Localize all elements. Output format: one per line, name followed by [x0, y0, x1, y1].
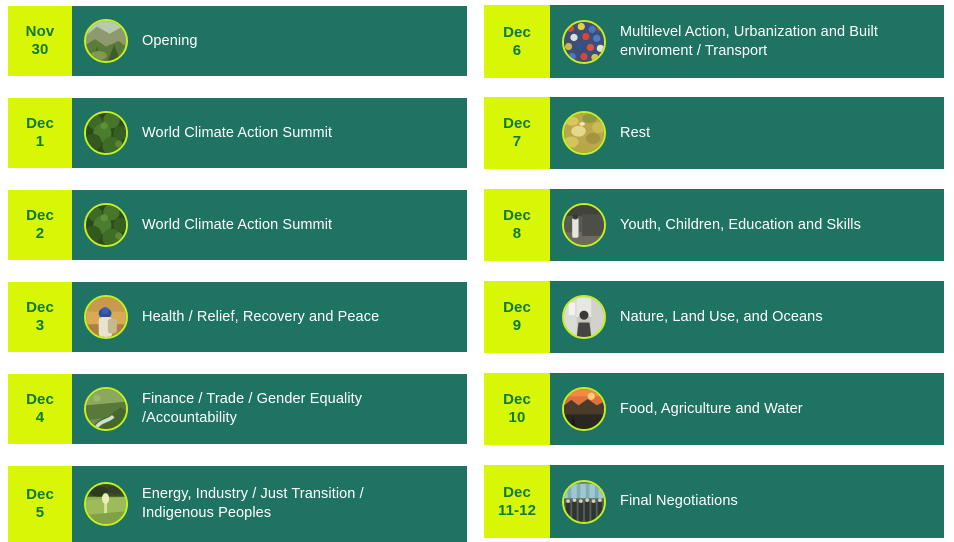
event-card-body: Finance / Trade / Gender Equality /Accou… — [72, 374, 467, 444]
event-card-body: Rest — [550, 97, 944, 169]
event-date-month: Nov — [26, 23, 55, 41]
event-date-day: 9 — [513, 317, 521, 335]
thumbnail-person-interior — [562, 295, 606, 339]
thumbnail-group-photo — [562, 480, 606, 524]
thumbnail-crowd-city — [562, 20, 606, 64]
thumbnail-autumn-leaves — [562, 111, 606, 155]
thumbnail-opening-landscape — [84, 19, 128, 63]
thumbnail-field-crops — [84, 482, 128, 526]
event-label: Multilevel Action, Urbanization and Buil… — [620, 23, 878, 60]
event-card[interactable]: Dec 8 Youth, Children, Education and Ski… — [484, 189, 944, 261]
event-date-day: 7 — [513, 133, 521, 151]
thumbnail-child-wall — [562, 203, 606, 247]
event-date-chip: Dec 4 — [8, 374, 72, 444]
event-date-day: 2 — [36, 225, 44, 243]
thumbnail-sunset-field — [562, 387, 606, 431]
event-label: Finance / Trade / Gender Equality /Accou… — [142, 390, 362, 427]
event-card[interactable]: Dec 9 Nature, Land Use, and Oceans — [484, 281, 944, 353]
event-card-body: Opening — [72, 6, 467, 76]
event-card-body: Nature, Land Use, and Oceans — [550, 281, 944, 353]
event-date-day: 10 — [509, 409, 526, 427]
thumbnail-health-worker — [84, 295, 128, 339]
event-label: Food, Agriculture and Water — [620, 400, 803, 419]
thumbnail-forest-canopy — [84, 111, 128, 155]
event-label: World Climate Action Summit — [142, 216, 332, 235]
event-date-month: Dec — [26, 299, 54, 317]
event-date-day: 5 — [36, 504, 44, 522]
schedule-column-right: Dec 6 — [484, 0, 944, 542]
event-date-month: Dec — [503, 115, 531, 133]
event-date-chip: Dec 6 — [484, 5, 550, 78]
event-date-month: Dec — [26, 207, 54, 225]
event-label: Health / Relief, Recovery and Peace — [142, 308, 379, 327]
event-date-day: 4 — [36, 409, 44, 427]
event-card[interactable]: Dec 2 World C — [8, 190, 467, 260]
event-card[interactable]: Dec 1 World C — [8, 98, 467, 168]
event-date-month: Dec — [26, 115, 54, 133]
event-label: Rest — [620, 124, 650, 143]
event-date-month: Dec — [503, 299, 531, 317]
thumbnail-river-valley — [84, 387, 128, 431]
event-card-body: Health / Relief, Recovery and Peace — [72, 282, 467, 352]
event-card-body: Final Negotiations — [550, 465, 944, 538]
event-card-body: Multilevel Action, Urbanization and Buil… — [550, 5, 944, 78]
event-date-chip: Dec 2 — [8, 190, 72, 260]
event-card[interactable]: Dec 4 Finance / Trade / Gender Equality … — [8, 374, 467, 444]
event-date-month: Dec — [503, 484, 531, 502]
event-label: Energy, Industry / Just Transition / Ind… — [142, 485, 364, 522]
event-date-day: 1 — [36, 133, 44, 151]
event-date-chip: Dec 11-12 — [484, 465, 550, 538]
event-label: Final Negotiations — [620, 492, 738, 511]
event-label: Nature, Land Use, and Oceans — [620, 308, 823, 327]
event-date-month: Dec — [503, 24, 531, 42]
schedule-column-left: Nov 30 Opening Dec — [8, 0, 468, 542]
event-card-body: Youth, Children, Education and Skills — [550, 189, 944, 261]
event-card[interactable]: Dec 7 Rest — [484, 97, 944, 169]
event-date-chip: Nov 30 — [8, 6, 72, 76]
event-date-month: Dec — [503, 391, 531, 409]
event-card[interactable]: Dec 3 Health / Relief, Recovery and Pea — [8, 282, 467, 352]
event-label: Youth, Children, Education and Skills — [620, 216, 861, 235]
event-date-chip: Dec 9 — [484, 281, 550, 353]
event-card-body: World Climate Action Summit — [72, 98, 467, 168]
event-date-chip: Dec 7 — [484, 97, 550, 169]
event-card[interactable]: Dec 6 — [484, 5, 944, 78]
event-card-body: Energy, Industry / Just Transition / Ind… — [72, 466, 467, 542]
event-date-month: Dec — [26, 486, 54, 504]
event-card-body: Food, Agriculture and Water — [550, 373, 944, 445]
event-label: Opening — [142, 32, 198, 51]
event-card[interactable]: Dec 5 Energy, Industry / J — [8, 466, 467, 542]
thumbnail-forest-canopy — [84, 203, 128, 247]
event-card-body: World Climate Action Summit — [72, 190, 467, 260]
event-date-day: 6 — [513, 42, 521, 60]
event-date-day: 3 — [36, 317, 44, 335]
event-date-chip: Dec 1 — [8, 98, 72, 168]
event-date-day: 30 — [32, 41, 49, 59]
event-card[interactable]: Nov 30 Opening — [8, 6, 467, 76]
event-card[interactable]: Dec 11-12 — [484, 465, 944, 538]
event-date-month: Dec — [26, 391, 54, 409]
event-date-chip: Dec 5 — [8, 466, 72, 542]
event-label: World Climate Action Summit — [142, 124, 332, 143]
event-date-day: 8 — [513, 225, 521, 243]
schedule-board: Nov 30 Opening Dec — [0, 0, 954, 542]
event-card[interactable]: Dec 10 Food, Agriculture and Water — [484, 373, 944, 445]
event-date-month: Dec — [503, 207, 531, 225]
event-date-day: 11-12 — [498, 502, 536, 520]
event-date-chip: Dec 10 — [484, 373, 550, 445]
event-date-chip: Dec 8 — [484, 189, 550, 261]
event-date-chip: Dec 3 — [8, 282, 72, 352]
